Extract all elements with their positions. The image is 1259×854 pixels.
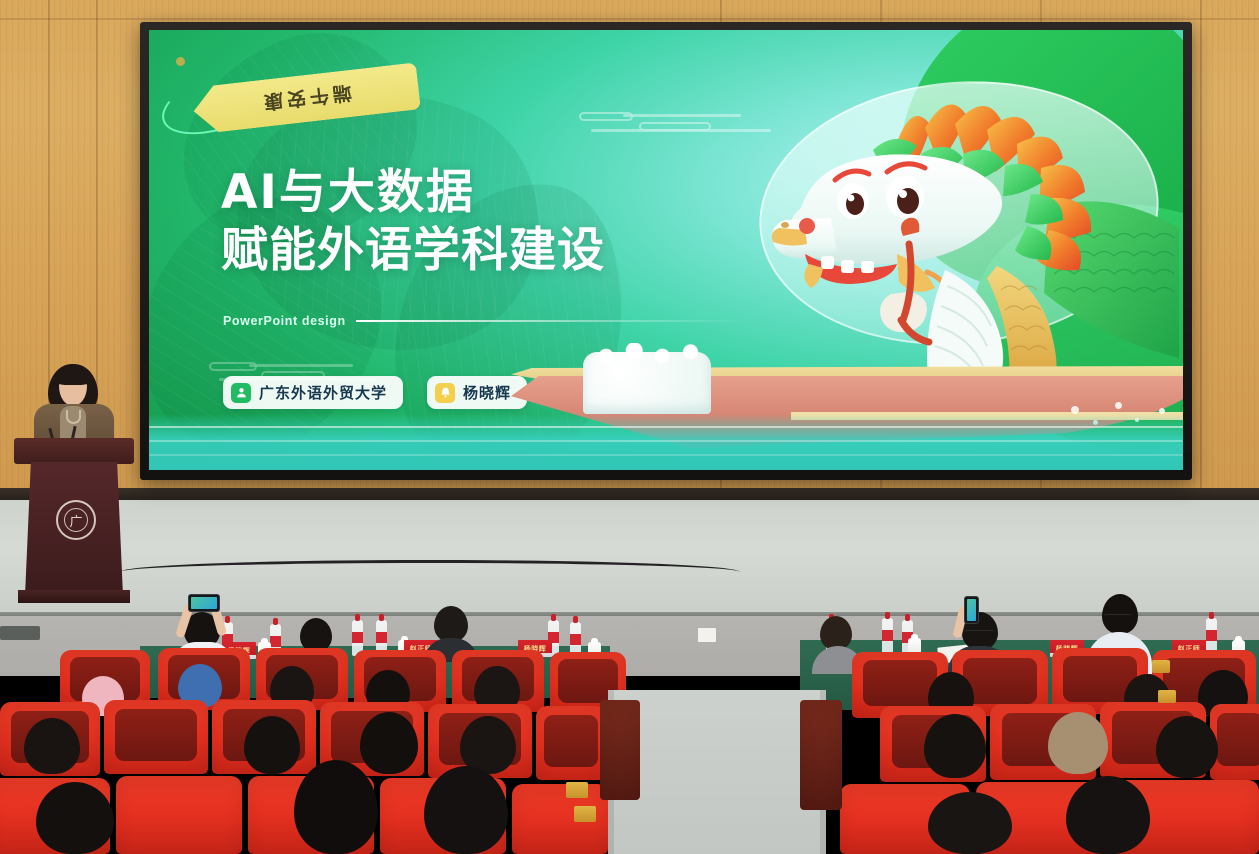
- subtitle-rule: [356, 320, 743, 322]
- attendee: [1148, 716, 1228, 778]
- center-aisle-floor: [608, 690, 826, 854]
- slide-chip-row: 广东外语外贸大学 杨晓辉: [223, 376, 527, 409]
- wall-switch: [698, 628, 716, 642]
- attendee: [1060, 776, 1160, 854]
- slide-title-line2: 赋能外语学科建设: [221, 222, 741, 280]
- floor-object: [0, 626, 40, 640]
- university-emblem-icon: 广: [56, 500, 96, 540]
- attendee: [916, 714, 996, 778]
- presentation-slide: 端午安康: [149, 30, 1183, 470]
- floor-cable: [120, 560, 740, 584]
- water-bottle: [882, 618, 893, 654]
- auditorium-seat[interactable]: [104, 700, 208, 774]
- seat-number-plate: [1152, 660, 1170, 673]
- water-bottle: [1206, 618, 1217, 654]
- attendee: [920, 792, 1024, 854]
- attendee: [418, 766, 518, 854]
- auditorium-seat[interactable]: [116, 776, 242, 854]
- slide-subtitle-row: PowerPoint design: [223, 314, 743, 328]
- seat-side-panel: [600, 700, 640, 800]
- seat-side-panel: [800, 700, 842, 810]
- chip-university: 广东外语外贸大学: [223, 376, 403, 409]
- person-icon: [231, 383, 251, 403]
- attendee: [1040, 712, 1118, 774]
- slide-title-line1: AI与大数据: [221, 164, 741, 222]
- dragon-illustration: [749, 58, 1179, 388]
- lectern: 广: [14, 438, 134, 606]
- slide-title: AI与大数据 赋能外语学科建设: [221, 164, 741, 281]
- seat-number-plate: [1158, 690, 1176, 703]
- attendee-recording: [170, 598, 234, 654]
- attendee: [16, 718, 90, 774]
- chip-presenter-label: 杨晓辉: [463, 382, 511, 403]
- zongzi-rice: [583, 352, 711, 414]
- tag-hole-icon: [176, 57, 186, 67]
- attendee: [28, 782, 124, 854]
- chip-university-label: 广东外语外贸大学: [259, 382, 387, 403]
- water-surface: [149, 414, 1183, 470]
- auditorium-seat[interactable]: [536, 706, 606, 780]
- auditorium-scene: 端午安康: [0, 0, 1259, 854]
- festival-tag-label: 端午安康: [259, 80, 353, 117]
- attendee: [288, 760, 388, 854]
- seat-number-plate: [574, 806, 596, 822]
- seat-number-plate: [566, 782, 588, 798]
- bell-icon: [435, 383, 455, 403]
- projection-screen: 端午安康: [140, 22, 1192, 480]
- slide-subtitle-label: PowerPoint design: [223, 314, 346, 328]
